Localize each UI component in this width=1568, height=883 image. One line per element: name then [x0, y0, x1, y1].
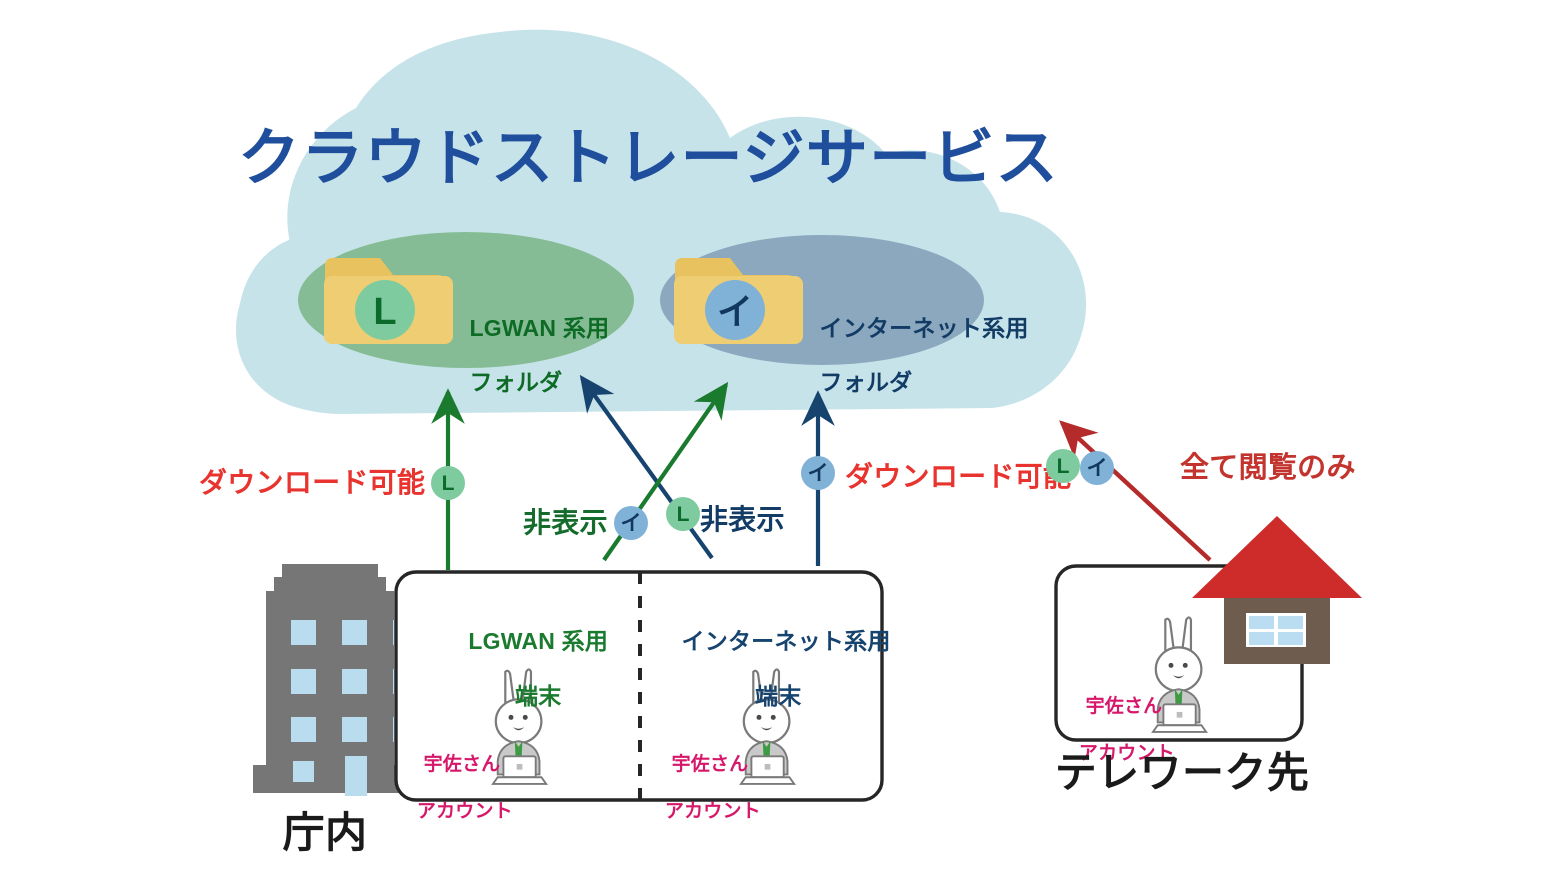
lgwan-terminal-title-line1: LGWAN 系用: [468, 628, 608, 654]
badge-I-download-internet: イ: [801, 456, 835, 490]
lgwan-folder-label-line2: フォルダ: [469, 369, 562, 395]
internet-terminal-title-line2: 端末: [755, 683, 801, 709]
lgwan-folder-label-line1: LGWAN 系用: [469, 315, 609, 341]
telework-location-label: テレワーク先: [1022, 748, 1342, 798]
caption-hidden-lgwan-to-internet: 非表示: [523, 506, 608, 539]
caption-hidden-internet-to-lgwan: 非表示: [700, 503, 785, 536]
office-building-icon: [253, 564, 418, 796]
lgwan-terminal-title: LGWAN 系用 端末: [420, 600, 630, 738]
internet-folder-label-line2: フォルダ: [819, 369, 912, 395]
arrow-telework-viewonly: [1062, 423, 1210, 560]
lgwan-terminal-title-line2: 端末: [515, 683, 561, 709]
account-label-telework-line1: 宇佐さん: [1086, 696, 1163, 717]
badge-I-view-only: イ: [1080, 451, 1114, 485]
account-label-internet-terminal: 宇佐さん アカウント: [643, 730, 755, 846]
caption-view-only: 全て閲覧のみ: [1180, 451, 1356, 485]
internet-terminal-title-line1: インターネット系用: [681, 628, 890, 654]
office-location-label: 庁内: [215, 808, 435, 858]
caption-download-lgwan: ダウンロード可能: [199, 466, 425, 499]
badge-I-hidden-lgwan-to-internet: イ: [614, 506, 648, 540]
internet-folder-label-line1: インターネット系用: [819, 315, 1028, 341]
internet-badge-letter: イ: [717, 291, 753, 332]
account-label-internet-line2: アカウント: [665, 801, 761, 822]
badge-L-hidden-internet-to-lgwan: L: [666, 497, 700, 531]
account-label-internet-line1: 宇佐さん: [672, 754, 749, 775]
lgwan-folder-label: LGWAN 系用 フォルダ: [443, 288, 609, 424]
diagram-canvas: L イ: [0, 0, 1568, 883]
lgwan-badge-letter: L: [373, 291, 396, 333]
page-title: クラウドストレージサービス: [238, 122, 1028, 195]
badge-L-download-lgwan: L: [431, 466, 465, 500]
account-label-lgwan-line1: 宇佐さん: [424, 754, 501, 775]
caption-download-internet: ダウンロード可能: [845, 460, 1071, 493]
badge-L-view-only: L: [1046, 449, 1080, 483]
internet-folder-label: インターネット系用 フォルダ: [793, 288, 1029, 424]
internet-terminal-title: インターネット系用 端末: [655, 600, 875, 738]
